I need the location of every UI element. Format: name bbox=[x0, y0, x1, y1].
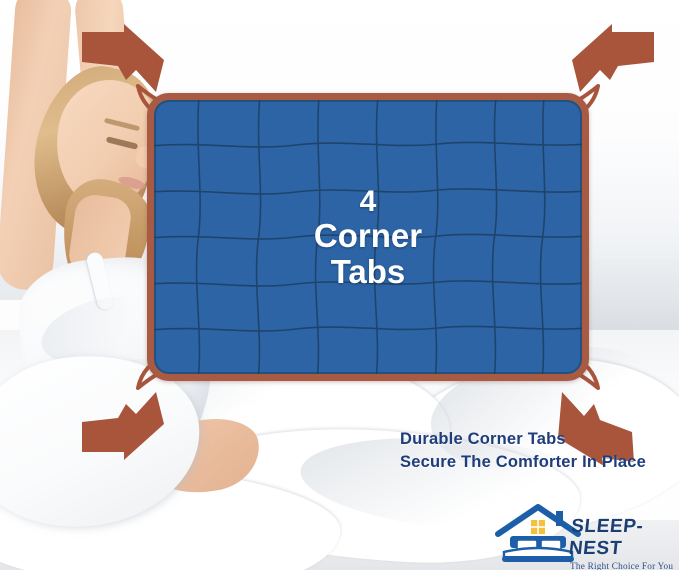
brand-logo: SLEEP-NEST The Right Choice For You bbox=[494, 504, 676, 566]
copy-line-2: Secure The Comforter In Place bbox=[400, 451, 646, 474]
brand-name: SLEEP-NEST bbox=[568, 516, 679, 560]
product-image: 4 Corner Tabs Durable Corner Tabs Secure… bbox=[0, 0, 679, 570]
arrow-top-right-icon bbox=[570, 22, 656, 96]
comforter-body: 4 Corner Tabs bbox=[147, 93, 589, 381]
comforter-overlay-text: 4 Corner Tabs bbox=[154, 186, 582, 290]
logo-wordmark: SLEEP-NEST The Right Choice For You bbox=[570, 516, 678, 570]
overlay-line-2: Corner bbox=[154, 218, 582, 254]
arrow-top-left-icon bbox=[80, 22, 166, 96]
overlay-line-3: Tabs bbox=[154, 254, 582, 290]
marketing-copy: Durable Corner Tabs Secure The Comforter… bbox=[400, 428, 646, 475]
copy-line-1: Durable Corner Tabs bbox=[400, 428, 646, 451]
overlay-line-1: 4 bbox=[154, 186, 582, 218]
comforter-graphic: 4 Corner Tabs bbox=[140, 86, 596, 388]
brand-tagline: The Right Choice For You bbox=[570, 561, 678, 570]
arrow-bottom-left-icon bbox=[80, 388, 166, 462]
